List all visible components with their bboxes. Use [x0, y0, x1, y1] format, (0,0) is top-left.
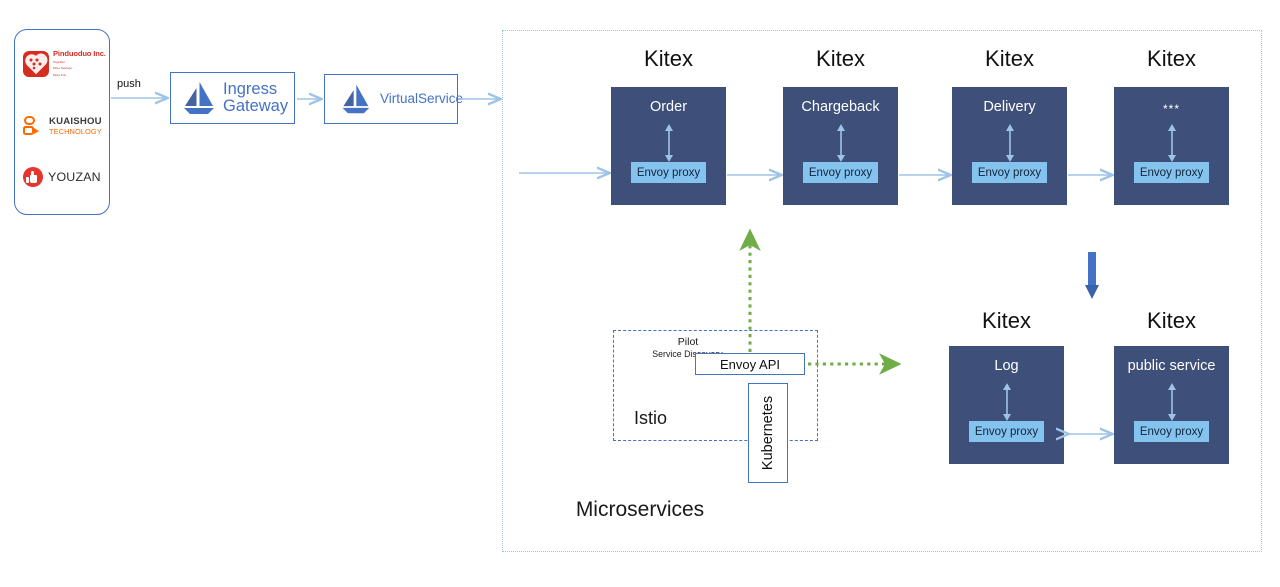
service-name-order: Order — [611, 100, 726, 116]
pinduoduo-tagline-2: More Savings — [53, 66, 106, 71]
bidirectional-arrow-icon — [1164, 123, 1180, 163]
kitex-label-delivery: Kitex — [952, 46, 1067, 72]
service-card-delivery[interactable]: Delivery Envoy proxy — [952, 87, 1067, 205]
diagram-canvas: Pinduoduo Inc. Together More Savings Mor… — [0, 0, 1280, 587]
service-name-public-service: public service — [1114, 359, 1229, 375]
pilot-label: Pilot — [628, 336, 748, 348]
logo-pinduoduo: Pinduoduo Inc. Together More Savings Mor… — [15, 47, 109, 81]
service-name-more: *** — [1114, 103, 1229, 116]
push-label: push — [117, 78, 141, 90]
youzan-thumbsup-icon — [23, 167, 43, 187]
client-logos-panel: Pinduoduo Inc. Together More Savings Mor… — [14, 29, 110, 215]
kubernetes-box[interactable]: Kubernetes — [748, 383, 788, 483]
envoy-proxy-log[interactable]: Envoy proxy — [969, 421, 1044, 442]
service-card-chargeback[interactable]: Chargeback Envoy proxy — [783, 87, 898, 205]
ingress-gateway-label-line1: Ingress — [223, 81, 288, 98]
bidirectional-arrow-icon — [1164, 382, 1180, 422]
pinduoduo-icon — [23, 51, 49, 77]
envoy-api-box[interactable]: Envoy API — [695, 353, 805, 375]
bidirectional-arrow-icon — [1002, 123, 1018, 163]
service-card-public-service[interactable]: public service Envoy proxy — [1114, 346, 1229, 464]
envoy-proxy-order[interactable]: Envoy proxy — [631, 162, 706, 183]
kuaishou-camera-icon — [23, 116, 45, 136]
kubernetes-label: Kubernetes — [760, 396, 776, 470]
envoy-proxy-delivery[interactable]: Envoy proxy — [972, 162, 1047, 183]
istio-sail-icon — [180, 79, 216, 117]
pinduoduo-tagline-1: Together — [53, 60, 106, 65]
service-name-chargeback: Chargeback — [783, 100, 898, 116]
envoy-proxy-more[interactable]: Envoy proxy — [1134, 162, 1209, 183]
bidirectional-arrow-icon — [833, 123, 849, 163]
service-card-more[interactable]: *** Envoy proxy — [1114, 87, 1229, 205]
istio-label: Istio — [634, 408, 667, 429]
ingress-gateway-box[interactable]: Ingress Gateway — [170, 72, 295, 124]
service-card-log[interactable]: Log Envoy proxy — [949, 346, 1064, 464]
pinduoduo-tagline-3: More Fun — [53, 73, 106, 78]
logo-youzan: YOUZAN — [15, 164, 109, 190]
service-name-log: Log — [949, 359, 1064, 375]
ingress-gateway-label-line2: Gateway — [223, 98, 288, 115]
bidirectional-arrow-icon — [661, 123, 677, 163]
service-name-delivery: Delivery — [952, 100, 1067, 116]
kuaishou-name: KUAISHOU — [49, 117, 102, 127]
kuaishou-sub: TECHNOLOGY — [49, 128, 102, 135]
bidirectional-arrow-icon — [999, 382, 1015, 422]
istio-sail-icon — [339, 82, 371, 116]
logo-kuaishou: KUAISHOU TECHNOLOGY — [15, 112, 109, 140]
service-card-order[interactable]: Order Envoy proxy — [611, 87, 726, 205]
virtualservice-label: VirtualService — [380, 92, 463, 106]
kitex-label-public-service: Kitex — [1114, 308, 1229, 334]
envoy-proxy-public-service[interactable]: Envoy proxy — [1134, 421, 1209, 442]
kitex-label-order: Kitex — [611, 46, 726, 72]
kitex-label-chargeback: Kitex — [783, 46, 898, 72]
kitex-label-more: Kitex — [1114, 46, 1229, 72]
kitex-label-log: Kitex — [949, 308, 1064, 334]
youzan-name: YOUZAN — [48, 170, 101, 184]
envoy-proxy-chargeback[interactable]: Envoy proxy — [803, 162, 878, 183]
pinduoduo-name: Pinduoduo Inc. — [53, 50, 106, 58]
ingress-gateway-label: Ingress Gateway — [223, 81, 288, 116]
virtualservice-box[interactable]: VirtualService — [324, 74, 458, 124]
microservices-title: Microservices — [0, 498, 1280, 522]
